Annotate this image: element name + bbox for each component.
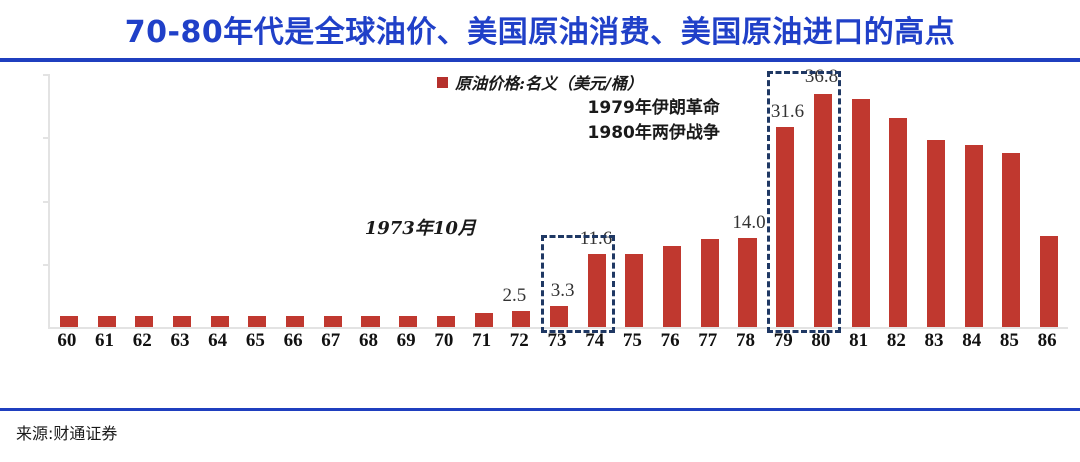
x-axis-tick-60: 60 [48,330,86,352]
y-axis-tick-mark [43,264,50,266]
annotation-line-2: 1980年两伊战争 [588,121,720,146]
bar-72[interactable] [512,311,530,327]
bar-71[interactable] [475,313,493,327]
chart-page: 70-80年代是全球油价、美国原油消费、美国原油进口的高点 原油价格:名义（美元… [0,0,1080,412]
x-axis-tick-70: 70 [425,330,463,352]
bar-69[interactable] [399,316,417,327]
data-label-74: 11.6 [580,228,613,250]
data-label-73: 3.3 [551,280,575,302]
bar-cell [804,74,842,327]
chart-container: 原油价格:名义（美元/桶） 010203040 2.53.311.614.031… [0,62,1080,412]
y-axis-tick-mark [43,74,50,76]
bar-cell [276,74,314,327]
bar-86[interactable] [1040,236,1058,327]
bar-68[interactable] [361,316,379,327]
bar-67[interactable] [324,316,342,327]
bar-cell [50,74,88,327]
bar-64[interactable] [211,316,229,327]
bar-cell [917,74,955,327]
x-axis-tick-81: 81 [840,330,878,352]
x-axis-tick-75: 75 [614,330,652,352]
bar-cell [163,74,201,327]
x-axis-tick-65: 65 [237,330,275,352]
bar-85[interactable] [1002,153,1020,327]
x-axis-tick-73: 73 [538,330,576,352]
bar-cell [465,74,503,327]
bar-65[interactable] [248,316,266,327]
bar-76[interactable] [663,246,681,327]
bar-80[interactable] [814,94,832,327]
x-axis-tick-66: 66 [274,330,312,352]
bar-78[interactable] [738,238,756,327]
bar-cell [993,74,1031,327]
data-label-79: 31.6 [771,101,804,123]
x-axis-tick-84: 84 [953,330,991,352]
x-axis: 6061626364656667686970717273747576777879… [48,330,1066,352]
bar-61[interactable] [98,316,116,327]
bar-73[interactable] [550,306,568,327]
x-axis-tick-71: 71 [463,330,501,352]
bar-cell [352,74,390,327]
x-axis-tick-86: 86 [1028,330,1066,352]
plot-area: 010203040 2.53.311.614.031.636.81973年10月… [48,74,1068,329]
bar-cell [239,74,277,327]
y-axis-tick-mark [43,137,50,139]
data-label-80: 36.8 [805,66,838,88]
bar-84[interactable] [965,145,983,327]
x-axis-tick-79: 79 [764,330,802,352]
bar-cell [314,74,352,327]
bar-cell [729,74,767,327]
x-axis-tick-83: 83 [915,330,953,352]
bar-cell [389,74,427,327]
annotation-1973: 1973年10月 [365,216,476,242]
x-axis-tick-61: 61 [86,330,124,352]
bar-60[interactable] [60,316,78,327]
bar-70[interactable] [437,316,455,327]
x-axis-tick-74: 74 [576,330,614,352]
x-axis-tick-76: 76 [651,330,689,352]
x-axis-tick-82: 82 [877,330,915,352]
bar-83[interactable] [927,140,945,327]
x-axis-tick-72: 72 [500,330,538,352]
bar-63[interactable] [173,316,191,327]
x-axis-tick-78: 78 [727,330,765,352]
bar-77[interactable] [701,239,719,327]
bar-79[interactable] [776,127,794,327]
page-header: 70-80年代是全球油价、美国原油消费、美国原油进口的高点 [0,0,1080,58]
y-axis-tick-mark [43,201,50,203]
bar-cell [1030,74,1068,327]
data-label-72: 2.5 [502,285,526,307]
x-axis-tick-64: 64 [199,330,237,352]
bar-cell [879,74,917,327]
x-axis-tick-77: 77 [689,330,727,352]
bar-cell [842,74,880,327]
bar-82[interactable] [889,118,907,327]
bar-cell [88,74,126,327]
source-note: 来源:财通证券 [16,420,117,444]
x-axis-tick-67: 67 [312,330,350,352]
bar-74[interactable] [588,254,606,327]
bar-cell [955,74,993,327]
bar-66[interactable] [286,316,304,327]
bar-cell [427,74,465,327]
x-axis-tick-85: 85 [991,330,1029,352]
x-axis-tick-68: 68 [350,330,388,352]
page-title: 70-80年代是全球油价、美国原油消费、美国原油进口的高点 [125,7,955,51]
x-axis-tick-69: 69 [387,330,425,352]
data-label-78: 14.0 [732,212,765,234]
bar-75[interactable] [625,254,643,327]
x-axis-tick-62: 62 [123,330,161,352]
bar-81[interactable] [852,99,870,327]
x-axis-tick-63: 63 [161,330,199,352]
footer-divider [0,408,1080,411]
bar-cell [125,74,163,327]
annotation-line-1: 1979年伊朗革命 [588,96,720,121]
annotation-1979-1980: 1979年伊朗革命1980年两伊战争 [588,96,720,145]
bar-62[interactable] [135,316,153,327]
bar-cell [201,74,239,327]
x-axis-tick-80: 80 [802,330,840,352]
